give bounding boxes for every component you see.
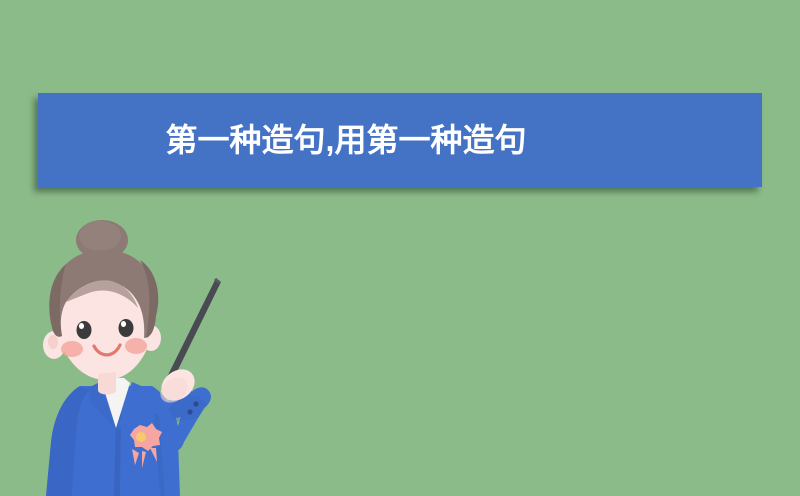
cheek-left bbox=[61, 341, 83, 357]
cheek-right bbox=[125, 338, 147, 354]
teacher-body bbox=[46, 363, 211, 496]
pointer-stick-icon bbox=[166, 278, 221, 382]
teacher-illustration bbox=[20, 218, 250, 496]
teacher-head bbox=[43, 220, 161, 395]
title-banner: 第一种造句,用第一种造句 bbox=[38, 93, 762, 187]
cuff-button-icon bbox=[193, 401, 198, 406]
title-text: 第一种造句,用第一种造句 bbox=[166, 124, 527, 156]
cuff-button-icon bbox=[187, 409, 192, 414]
slide-canvas: 第一种造句,用第一种造句 bbox=[0, 0, 800, 496]
